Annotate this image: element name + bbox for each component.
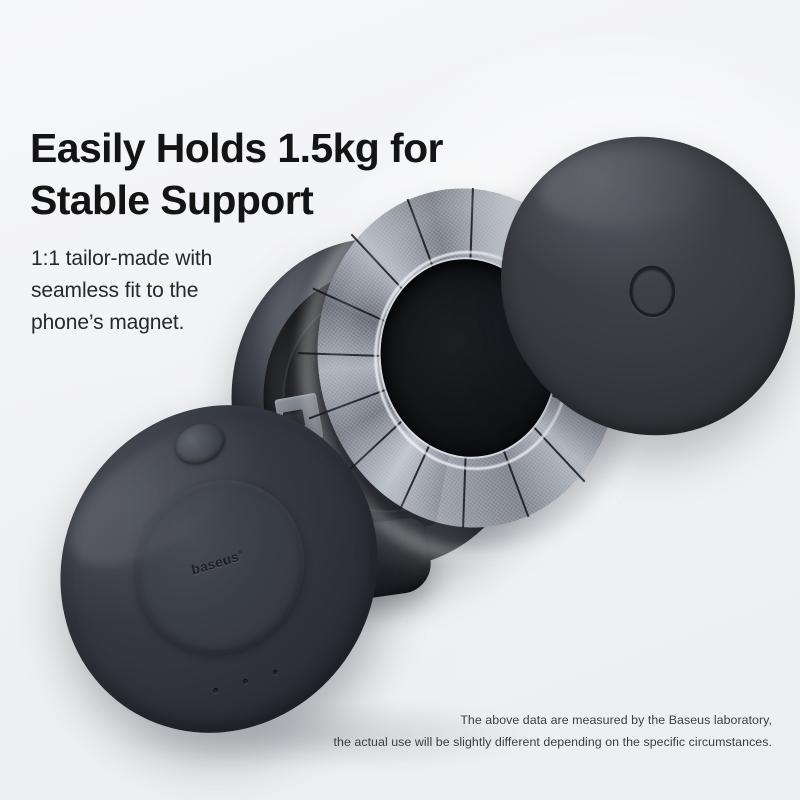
subheadline: 1:1 tailor-made with seamless fit to the… xyxy=(31,243,331,339)
subheadline-line-3: phone’s magnet. xyxy=(31,307,331,339)
disclaimer-line-2: the actual use will be slightly differen… xyxy=(0,732,772,754)
baseus-logo-tm: ® xyxy=(237,548,243,556)
product-exploded-view: baseus® xyxy=(0,0,800,800)
disclaimer-line-1: The above data are measured by the Baseu… xyxy=(0,710,772,732)
product-marketing-image: baseus® Easily Holds 1.5kg for Stable Su… xyxy=(0,0,800,800)
magnet-plate-gloss xyxy=(534,144,711,231)
screw-dot xyxy=(242,678,248,684)
screw-dot xyxy=(212,687,218,693)
screw-dot xyxy=(272,669,278,675)
phone-side-magnet-plate xyxy=(482,111,800,461)
subheadline-line-1: 1:1 tailor-made with xyxy=(31,243,331,275)
headline-line-1: Easily Holds 1.5kg for xyxy=(30,125,443,171)
headline: Easily Holds 1.5kg for Stable Support xyxy=(30,123,490,226)
magnet-plate-center-mark xyxy=(626,262,678,321)
disclaimer-note: The above data are measured by the Baseu… xyxy=(0,710,772,753)
magnet-plate-face xyxy=(482,111,800,461)
headline-line-2: Stable Support xyxy=(30,175,490,227)
subheadline-line-2: seamless fit to the xyxy=(31,275,331,307)
